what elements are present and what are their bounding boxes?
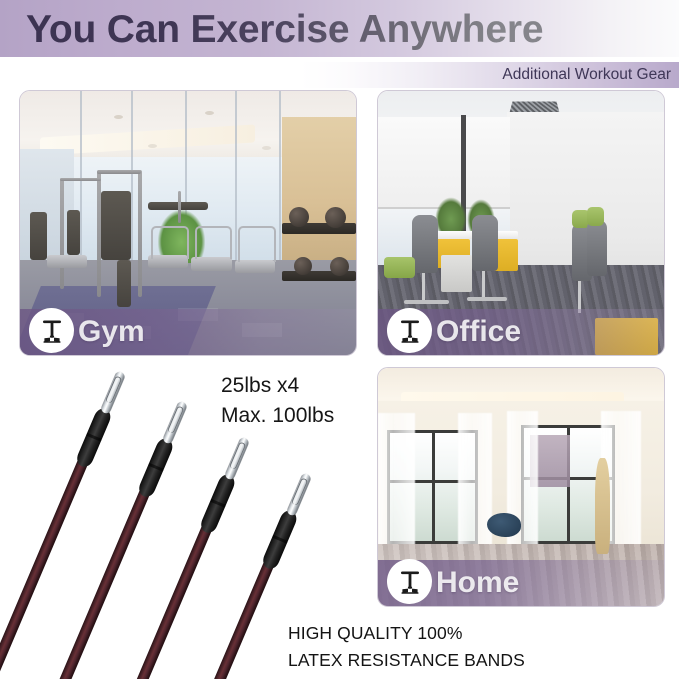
product-quality-text: HIGH QUALITY 100% LATEX RESISTANCE BANDS [288, 620, 525, 674]
home-window-mullion [432, 430, 435, 544]
office-chair-seat [384, 257, 415, 278]
product-spec-text: 25lbs x4 Max. 100lbs [221, 371, 334, 431]
subheader-title: Additional Workout Gear [502, 64, 671, 86]
gym-treadmill [191, 257, 231, 270]
gym-dumbbell [289, 207, 309, 227]
office-chair-post [422, 273, 425, 302]
gym-downlight [148, 144, 157, 148]
band-sleeve [198, 472, 237, 535]
office-chair-headrest [587, 207, 604, 225]
home-curtain [378, 413, 415, 546]
gym-machine-frame [138, 170, 142, 297]
band-carabiner-clip [161, 400, 187, 444]
gym-treadmill-handrail [151, 226, 189, 260]
photo-panel-gym: Gym [19, 90, 357, 356]
office-label: Office [436, 312, 521, 352]
band-carabiner-clip [285, 472, 311, 516]
office-plant [435, 197, 466, 231]
office-chair-post [578, 281, 581, 313]
office-chair-base [404, 300, 450, 304]
gym-bench-pad [30, 212, 47, 260]
gym-dumbbell [325, 207, 346, 228]
gym-machine-pad [101, 191, 131, 260]
gym-treadmill [47, 255, 87, 268]
gym-weight-stack [117, 260, 130, 308]
office-chair [472, 215, 498, 270]
band-sleeve [136, 436, 175, 499]
gym-machine-frame [60, 178, 64, 289]
office-chair [587, 220, 607, 275]
photo-panel-home: Home [377, 367, 665, 607]
spec-weight-per-band: 25lbs x4 [221, 371, 334, 401]
band-sleeve [260, 508, 299, 571]
office-chair [412, 215, 438, 273]
band-sleeve [74, 406, 113, 469]
quality-line-2: LATEX RESISTANCE BANDS [288, 647, 525, 674]
home-floor-lamp [595, 458, 609, 553]
office-cabinet [441, 255, 472, 292]
gym-bench-pad [67, 210, 80, 255]
gym-treadmill-handrail [195, 226, 233, 260]
gym-treadmill-handrail [238, 226, 276, 262]
home-label: Home [436, 563, 519, 603]
band-carabiner-clip [223, 436, 249, 480]
band-carabiner-clip [99, 370, 125, 414]
office-window-blind [378, 117, 510, 209]
page-title: You Can Exercise Anywhere [26, 4, 543, 56]
resistance-bar-icon [387, 559, 432, 604]
gym-downlight [205, 111, 214, 115]
photo-panel-office: Office [377, 90, 665, 356]
spec-max-weight: Max. 100lbs [221, 401, 334, 431]
home-beanbag [487, 513, 521, 537]
gym-machine-frame [178, 191, 181, 223]
office-chair-post [482, 271, 485, 297]
gym-label: Gym [78, 312, 145, 352]
gym-downlight [114, 115, 123, 119]
gym-machine-frame [97, 170, 141, 174]
quality-line-1: HIGH QUALITY 100% [288, 620, 525, 647]
office-chair-base [467, 297, 507, 301]
resistance-bar-icon [387, 308, 432, 353]
gym-machine-frame [60, 178, 100, 181]
resistance-bar-icon [29, 308, 74, 353]
